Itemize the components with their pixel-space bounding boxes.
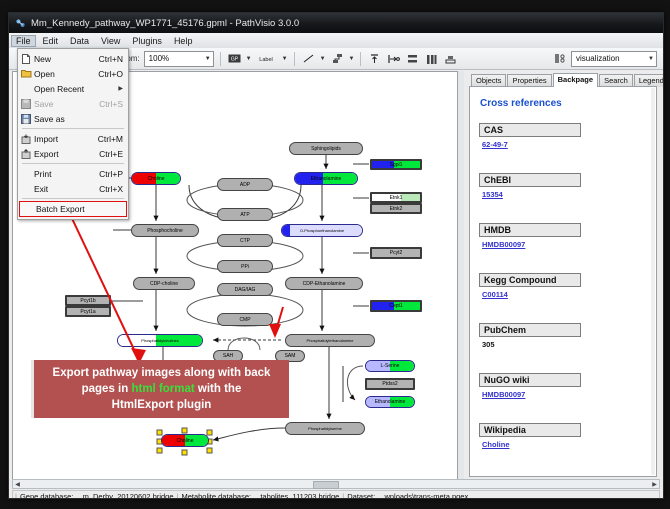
node-label: Etnk2 <box>390 206 403 212</box>
node-label: Pcyt2 <box>390 250 403 256</box>
annotation-callout: Export pathway images along with back pa… <box>31 360 289 418</box>
file-menu-item-label: Export <box>34 149 99 159</box>
pathway-node-o-phosphoethanolamine[interactable]: O-Phosphoethanolamine <box>281 224 363 237</box>
pathway-node-pcyt2[interactable]: Pcyt2 <box>370 247 422 259</box>
file-menu-item-shortcut: Ctrl+O <box>98 69 128 79</box>
pathway-node-phosphatidylethanolamine[interactable]: Phosphatidylethanolamine <box>285 334 375 347</box>
file-menu-item-label: Print <box>34 169 99 179</box>
title-bar: Mm_Kennedy_pathway_WP1771_45176.gpml - P… <box>9 13 663 33</box>
dataset-label: Dataset: <box>347 492 375 500</box>
save-disk-icon <box>18 99 34 109</box>
callout-highlight: html format <box>131 383 194 395</box>
tab-backpage[interactable]: Backpage <box>553 73 598 87</box>
interaction-chevron-down-icon[interactable]: ▼ <box>349 56 355 62</box>
pathway-node-l-serine[interactable]: L-Serine <box>365 360 415 372</box>
pathway-node-sphingolipids[interactable]: Sphingolipids <box>289 142 363 155</box>
cross-reference-db-label: PubChem <box>479 323 581 337</box>
file-menu-item-label: Open Recent <box>34 84 123 94</box>
interaction-tool-button[interactable] <box>330 51 345 66</box>
cross-reference-entry: NuGO wikiHMDB00097 <box>479 373 581 399</box>
chevron-down-icon: ▼ <box>205 56 211 62</box>
label-chevron-down-icon[interactable]: ▼ <box>282 56 288 62</box>
menu-data[interactable]: Data <box>65 35 94 47</box>
menu-separator <box>22 163 124 164</box>
import-icon <box>18 134 34 144</box>
line-tool-button[interactable] <box>301 51 316 66</box>
toolbar-divider-2 <box>294 52 295 66</box>
callout-line3: HtmlExport plugin <box>112 399 212 411</box>
datanode-tool-button[interactable]: GP <box>227 51 242 66</box>
pathway-node-ethanolamine-bottom[interactable]: Ethanolamine <box>365 396 415 408</box>
zoom-value: 100% <box>149 54 169 63</box>
file-menu-item-new[interactable]: NewCtrl+N <box>18 51 128 66</box>
cross-reference-link[interactable]: HMDB00097 <box>482 240 581 249</box>
cross-reference-entry: HMDBHMDB00097 <box>479 223 581 249</box>
menu-view[interactable]: View <box>96 35 125 47</box>
cross-reference-entry: Kegg CompoundC00114 <box>479 273 581 299</box>
pathway-node-atp[interactable]: ATP <box>217 208 273 221</box>
file-menu-item-save: SaveCtrl+S <box>18 96 128 111</box>
pathway-node-ppi[interactable]: PPi <box>217 260 273 273</box>
menu-file[interactable]: File <box>11 35 36 47</box>
node-label: Ptdss2 <box>382 381 397 387</box>
node-label: Phosphatidylserine <box>308 426 342 432</box>
node-label: Choline <box>177 438 194 444</box>
visualization-chevron-down-icon: ▼ <box>648 56 654 62</box>
file-menu-item-open[interactable]: OpenCtrl+O <box>18 66 128 81</box>
node-label: Pcyt1b <box>80 298 95 304</box>
menu-edit[interactable]: Edit <box>38 35 64 47</box>
svg-text:GP: GP <box>231 57 239 63</box>
pathway-node-cmp[interactable]: CMP <box>217 313 273 326</box>
pathway-node-sgpl1[interactable]: Sgpl1 <box>370 159 422 170</box>
pathway-node-choline-bottom[interactable]: Choline <box>161 434 209 447</box>
node-label: L-Serine <box>381 363 400 369</box>
node-label: Ethanolamine <box>375 399 406 405</box>
pathway-node-ptdss2[interactable]: Ptdss2 <box>365 378 415 390</box>
callout-line2-b: with the <box>195 383 242 395</box>
dataset-value: ...wnloads\trans-meta.pgex <box>378 492 468 500</box>
cross-reference-db-label: ChEBI <box>479 173 581 187</box>
cross-reference-link[interactable]: HMDB00097 <box>482 390 581 399</box>
save-as-icon <box>18 114 34 124</box>
cross-reference-db-label: Kegg Compound <box>479 273 581 287</box>
file-menu-item-label: Open <box>34 69 98 79</box>
node-label: Cept1 <box>389 303 402 309</box>
svg-text:Label: Label <box>259 57 272 63</box>
pathway-node-cdp-ethanolamine[interactable]: CDP-Ethanolamine <box>285 277 363 290</box>
visualization-icon <box>552 51 567 66</box>
cross-reference-entry: WikipediaCholine <box>479 423 581 449</box>
stack-tool-button[interactable] <box>443 51 458 66</box>
cross-reference-db-label: NuGO wiki <box>479 373 581 387</box>
node-label: Etnk1 <box>390 195 403 201</box>
gene-database-label: Gene database: <box>20 492 73 500</box>
node-label: Sphingolipids <box>311 146 341 152</box>
pathway-node-choline-top[interactable]: Choline <box>131 172 181 185</box>
file-menu-item-label: Save as <box>34 114 123 124</box>
toolbar-divider <box>220 52 221 66</box>
horizontal-scrollbar[interactable]: ◀ ▶ <box>12 479 660 489</box>
pathway-node-cdp-choline[interactable]: CDP-choline <box>133 277 195 290</box>
node-label: SAH <box>223 353 233 359</box>
pathway-node-cept1[interactable]: Cept1 <box>370 300 422 312</box>
node-label: CMP <box>239 317 250 323</box>
file-menu-item-shortcut: Ctrl+M <box>98 134 128 144</box>
line-chevron-down-icon[interactable]: ▼ <box>320 56 326 62</box>
cross-reference-db-label: Wikipedia <box>479 423 581 437</box>
node-label: O-Phosphoethanolamine <box>300 228 344 234</box>
file-menu-item-label: Exit <box>34 184 99 194</box>
menu-separator <box>22 128 124 129</box>
visualization-combo[interactable]: visualization ▼ <box>571 51 657 67</box>
file-menu-item-shortcut: Ctrl+X <box>99 184 128 194</box>
cross-reference-link[interactable]: 15354 <box>482 190 581 199</box>
submenu-arrow-icon: ▶ <box>118 85 123 92</box>
sidebar-tabs: Objects Properties Backpage Search Legen… <box>471 73 664 87</box>
pathway-node-phosphatidylcholines[interactable]: Phosphatidylcholines <box>117 334 203 347</box>
file-menu-item-export[interactable]: ExportCtrl+E <box>18 146 128 161</box>
node-label: ADP <box>240 182 250 188</box>
node-label: Choline <box>148 176 165 182</box>
file-menu-item-open-recent[interactable]: Open Recent▶ <box>18 81 128 96</box>
window-title: Mm_Kennedy_pathway_WP1771_45176.gpml - P… <box>31 18 299 29</box>
file-menu-item-batch-export[interactable]: Batch Export <box>19 201 127 217</box>
node-label: Ethanolamine <box>311 176 342 182</box>
distribute-horizontal-button[interactable] <box>424 51 439 66</box>
pathvisio-icon <box>15 18 26 29</box>
pathway-node-phosphocholine[interactable]: Phosphocholine <box>131 224 199 237</box>
cross-references-heading: Cross references <box>480 98 562 109</box>
node-label: ATP <box>240 212 249 218</box>
status-sep-2: | <box>342 492 344 500</box>
menu-plugins[interactable]: Plugins <box>127 35 167 47</box>
callout-line2-a: pages in <box>82 383 132 395</box>
pathway-node-pcyt1b[interactable]: Pcyt1b <box>65 295 111 306</box>
pathway-node-etnk2[interactable]: Etnk2 <box>370 203 422 214</box>
node-label: Phosphatidylethanolamine <box>307 338 354 344</box>
file-menu-item-label: New <box>34 54 99 64</box>
cross-reference-value: 305 <box>482 340 581 349</box>
node-fill-segment <box>401 194 420 201</box>
scroll-left-icon[interactable]: ◀ <box>13 480 22 488</box>
export-icon <box>18 149 34 159</box>
visualization-value: visualization <box>576 54 620 63</box>
gene-database-value: ...m_Derby_20120602.bridge <box>76 492 173 500</box>
menu-help[interactable]: Help <box>169 35 198 47</box>
cross-reference-entry: ChEBI15354 <box>479 173 581 199</box>
scroll-right-icon[interactable]: ▶ <box>650 480 659 488</box>
node-label: Sgpl1 <box>390 162 403 168</box>
file-menu-item-import[interactable]: ImportCtrl+M <box>18 131 128 146</box>
sidebar-panel: Objects Properties Backpage Search Legen… <box>465 71 660 479</box>
cross-reference-entry: PubChem305 <box>479 323 581 349</box>
file-menu-item-print[interactable]: PrintCtrl+P <box>18 166 128 181</box>
status-sep-0: | <box>15 492 17 500</box>
file-menu-item-label: Save <box>34 99 99 109</box>
scroll-thumb[interactable] <box>313 481 339 489</box>
pathway-node-etnk1[interactable]: Etnk1 <box>370 192 422 203</box>
node-label: CDP-choline <box>150 281 178 287</box>
cross-reference-db-label: CAS <box>479 123 581 137</box>
node-fill-segment <box>282 225 290 236</box>
cross-reference-link[interactable]: C00114 <box>482 290 581 299</box>
metabolite-database-label: Metabolite database: <box>181 492 251 500</box>
file-menu-item-shortcut: Ctrl+S <box>99 99 128 109</box>
callout-line1: Export pathway images along with back <box>53 367 271 379</box>
node-label: Phosphocholine <box>147 228 183 234</box>
align-left-button[interactable] <box>386 51 401 66</box>
node-label: PPi <box>241 264 249 270</box>
backpage-content: Cross references CAS62-49-7ChEBI15354HMD… <box>469 86 657 477</box>
pathway-node-pcyt1a[interactable]: Pcyt1a <box>65 306 111 317</box>
pathway-node-ctp[interactable]: CTP <box>217 234 273 247</box>
pathway-node-dag-iag[interactable]: DAG/IAG <box>217 283 273 296</box>
pathway-node-ethanolamine-top[interactable]: Ethanolamine <box>294 172 358 185</box>
distribute-vertical-button[interactable] <box>405 51 420 66</box>
new-document-icon <box>18 54 34 64</box>
node-label: CTP <box>240 238 250 244</box>
node-label: CDP-Ethanolamine <box>303 281 346 287</box>
cross-reference-db-label: HMDB <box>479 223 581 237</box>
menu-bar: File Edit Data View Plugins Help <box>9 33 663 49</box>
cross-reference-link[interactable]: Choline <box>482 440 581 449</box>
menu-separator <box>22 198 124 199</box>
label-tool-button[interactable]: Label <box>256 51 278 66</box>
cross-reference-entry: CAS62-49-7 <box>479 123 581 149</box>
status-sep-1: | <box>177 492 179 500</box>
file-menu-dropdown: NewCtrl+NOpenCtrl+OOpen Recent▶SaveCtrl+… <box>17 48 129 220</box>
zoom-combo[interactable]: 100% ▼ <box>144 51 214 67</box>
file-menu-item-shortcut: Ctrl+E <box>99 149 128 159</box>
datanode-chevron-down-icon[interactable]: ▼ <box>246 56 252 62</box>
node-label: SAM <box>285 353 296 359</box>
pathway-node-phosphatidylserine[interactable]: Phosphatidylserine <box>285 422 365 435</box>
align-top-button[interactable] <box>367 51 382 66</box>
metabolite-database-value: ...tabolites_111203.bridge <box>254 492 339 500</box>
node-label: DAG/IAG <box>235 287 256 293</box>
canvas-sidebar-splitter[interactable] <box>458 71 464 479</box>
status-bar: | Gene database: ...m_Derby_20120602.bri… <box>12 490 660 499</box>
open-folder-icon <box>18 69 34 78</box>
node-label: Pcyt1a <box>80 309 95 315</box>
file-menu-item-label: Batch Export <box>36 204 121 214</box>
file-menu-item-label: Import <box>34 134 98 144</box>
file-menu-item-save-as[interactable]: Save as <box>18 111 128 126</box>
sidebar-scrollbar[interactable] <box>651 88 655 475</box>
pathway-node-adp[interactable]: ADP <box>217 178 273 191</box>
pathvisio-window: Mm_Kennedy_pathway_WP1771_45176.gpml - P… <box>8 12 664 499</box>
desktop-background: Mm_Kennedy_pathway_WP1771_45176.gpml - P… <box>0 0 670 509</box>
file-menu-item-shortcut: Ctrl+N <box>99 54 128 64</box>
file-menu-item-exit[interactable]: ExitCtrl+X <box>18 181 128 196</box>
toolbar-divider-3 <box>360 52 361 66</box>
node-label: Phosphatidylcholines <box>141 338 179 344</box>
file-menu-item-shortcut: Ctrl+P <box>99 169 128 179</box>
cross-reference-link[interactable]: 62-49-7 <box>482 140 581 149</box>
